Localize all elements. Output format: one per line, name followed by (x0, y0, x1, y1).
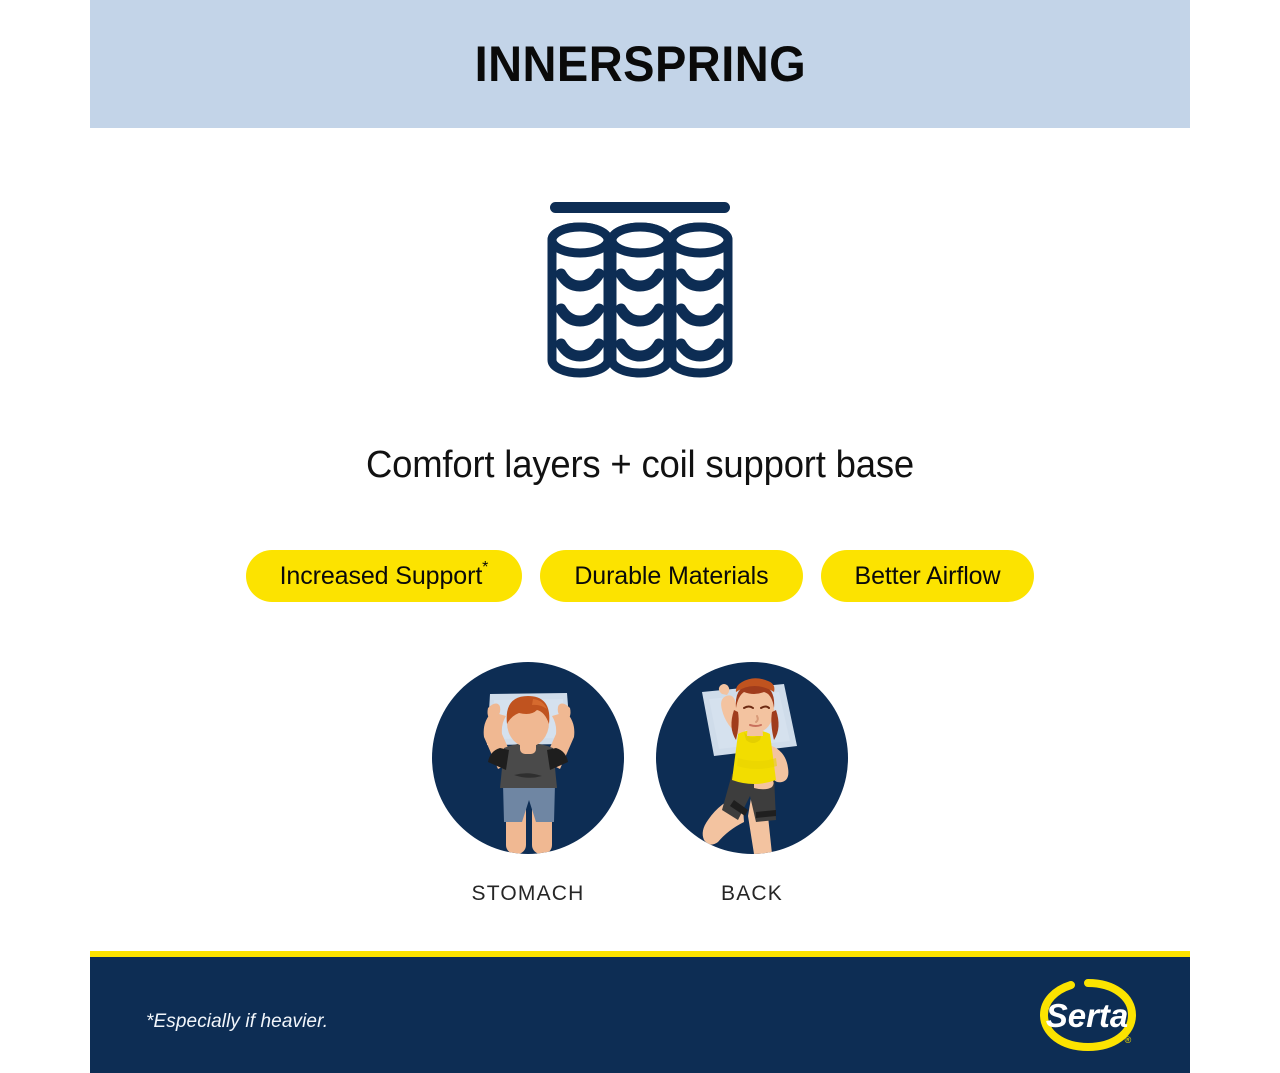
back-sleeper-icon (656, 662, 848, 854)
sleeper-label-back: BACK (721, 882, 783, 906)
innerspring-coil-icon (540, 185, 740, 395)
subtitle-text: Comfort layers + coil support base (112, 444, 1168, 487)
sleeper-stomach[interactable]: STOMACH (432, 662, 624, 906)
page-title: INNERSPRING (474, 39, 806, 89)
registered-mark: ® (1125, 1035, 1132, 1045)
feature-pill-increased-support[interactable]: Increased Support* (246, 550, 523, 602)
stomach-sleeper-icon (432, 662, 624, 854)
header-banner: INNERSPRING (90, 0, 1190, 128)
coil-icon-container (90, 185, 1190, 395)
support-bar (550, 202, 730, 213)
feature-pill-better-airflow[interactable]: Better Airflow (821, 550, 1035, 602)
footnote-text: *Especially if heavier. (146, 1011, 328, 1033)
feature-pill-label: Increased Support* (280, 562, 489, 591)
sleeper-positions: STOMACH (90, 662, 1190, 906)
sleeper-back[interactable]: BACK (656, 662, 848, 906)
footer-bar: *Especially if heavier. Serta ® (90, 957, 1190, 1073)
coil-3 (672, 227, 728, 373)
sleeper-circle-back (656, 662, 848, 854)
feature-pill-label: Durable Materials (574, 562, 768, 591)
footnote-marker: * (482, 559, 488, 576)
head (507, 696, 550, 747)
serta-logo-text: Serta (1046, 997, 1129, 1034)
coil-1 (552, 227, 608, 373)
feature-pill-list: Increased Support* Durable Materials Bet… (90, 550, 1190, 602)
sleeper-label-stomach: STOMACH (471, 882, 584, 906)
innerspring-card: INNERSPRING (90, 0, 1190, 1073)
coil-2 (612, 227, 668, 373)
sleeper-circle-stomach (432, 662, 624, 854)
serta-logo[interactable]: Serta ® (1038, 975, 1138, 1057)
infographic-page: INNERSPRING (0, 0, 1280, 1073)
feature-pill-label: Better Airflow (855, 562, 1001, 591)
feature-pill-durable-materials[interactable]: Durable Materials (540, 550, 802, 602)
